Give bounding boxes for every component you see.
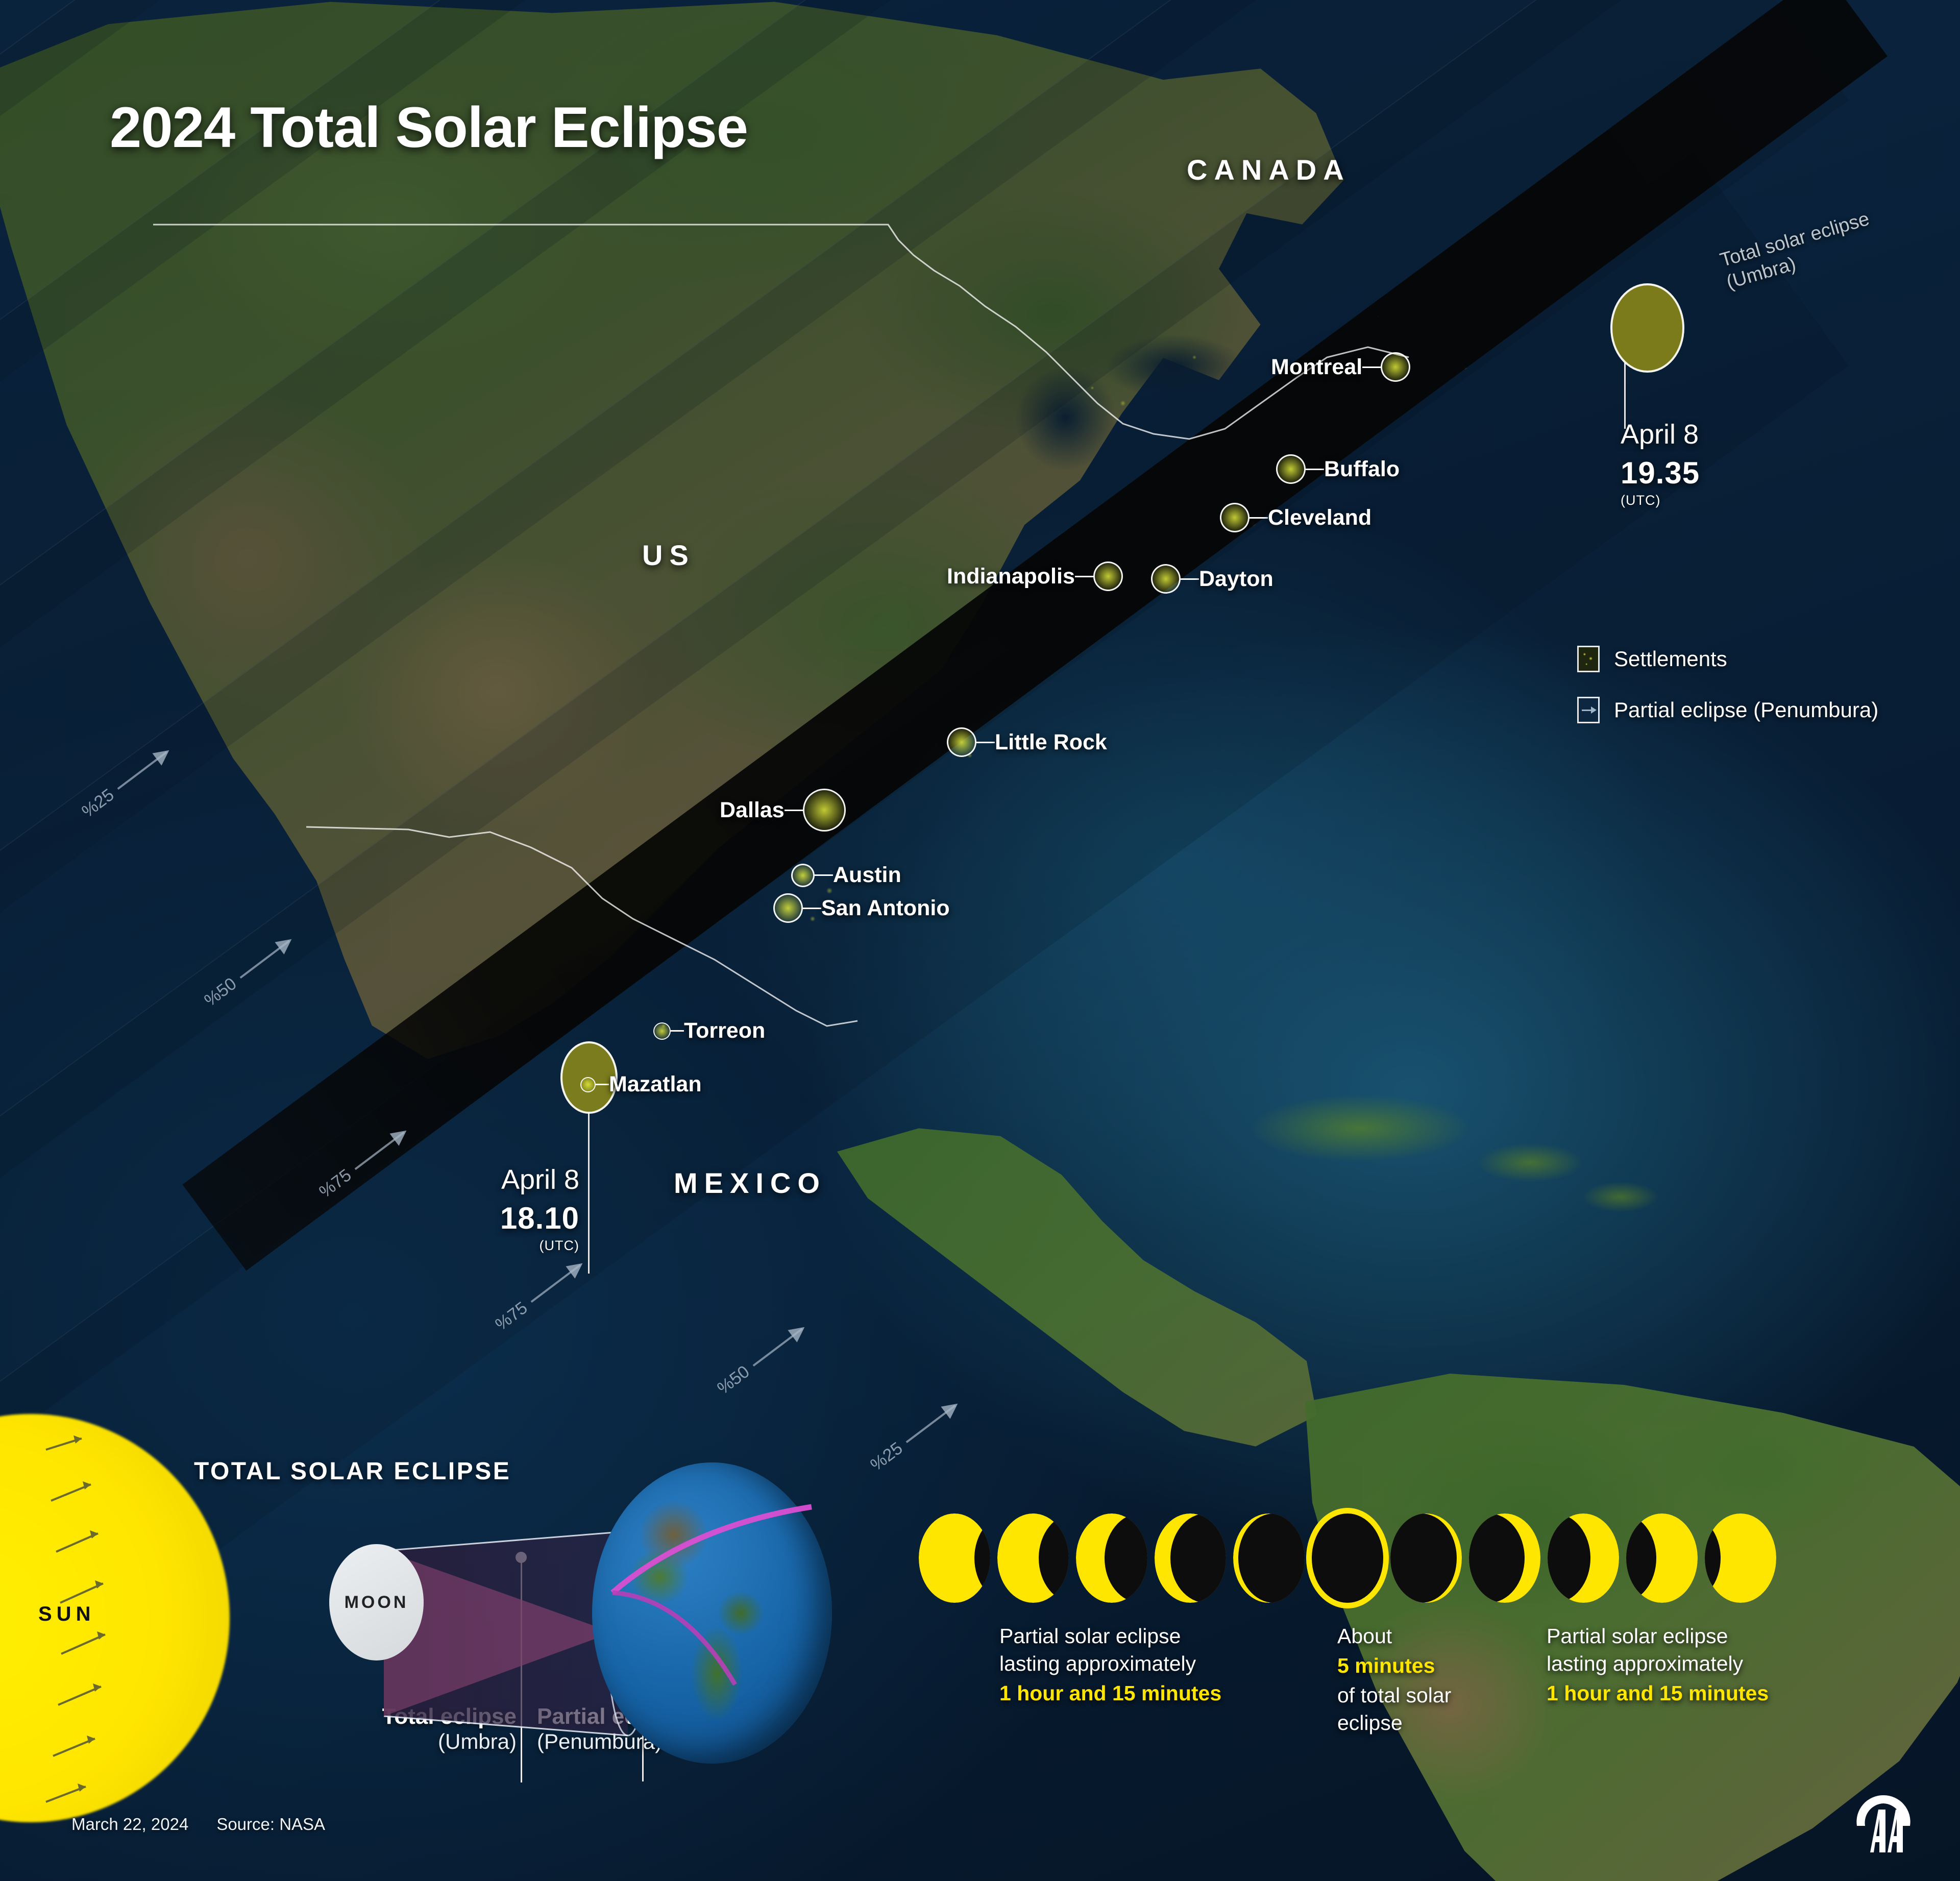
callout-timezone: (UTC)	[480, 1238, 579, 1254]
callout-leader-line	[588, 1113, 590, 1274]
city-label: Dallas	[720, 798, 785, 823]
leader-line	[1362, 367, 1381, 368]
callout-time: 19.35	[1621, 455, 1700, 491]
caption-line2: lasting approximately	[1547, 1650, 1840, 1677]
callout-leader-line	[1624, 362, 1626, 429]
umbra-footprint-east	[1610, 283, 1684, 373]
eclipse-phase-partial	[1705, 1513, 1776, 1603]
caption-line1: Partial solar eclipse	[999, 1622, 1293, 1650]
settlement-dot-icon	[580, 1077, 596, 1092]
settlement-dot-icon	[1220, 503, 1249, 532]
settlement-dot-icon	[791, 864, 815, 887]
settlement-dot-icon	[653, 1022, 671, 1040]
callout-date: April 8	[1621, 419, 1700, 450]
city-marker-torreon[interactable]: Torreon	[653, 1018, 765, 1043]
city-marker-montreal[interactable]: Montreal	[1271, 352, 1410, 382]
eclipse-phase-partial	[1626, 1513, 1698, 1603]
eclipse-phase-total	[1312, 1513, 1383, 1603]
legend-item-settlements: Settlements	[1577, 646, 1878, 672]
city-label: Mazatlan	[609, 1072, 702, 1097]
footer: March 22, 2024 Source: NASA	[71, 1815, 325, 1834]
city-label: Montreal	[1271, 355, 1362, 380]
infographic-canvas: 2024 Total Solar Eclipse CANADA US MEXIC…	[0, 0, 1960, 1881]
caption-line2: of total solar	[1337, 1681, 1490, 1709]
city-marker-austin[interactable]: Austin	[791, 863, 901, 888]
caption-line1: Partial solar eclipse	[1547, 1622, 1840, 1650]
caption-line1: About	[1337, 1622, 1490, 1650]
phase-caption-after: Partial solar eclipse lasting approximat…	[1547, 1622, 1840, 1707]
settlement-dot-icon	[1151, 564, 1181, 594]
city-label: Torreon	[684, 1018, 765, 1043]
moon-label: MOON	[345, 1593, 409, 1613]
eclipse-phase-partial	[1076, 1513, 1147, 1603]
city-label: Little Rock	[995, 730, 1107, 755]
city-marker-little-rock[interactable]: Little Rock	[947, 727, 1107, 757]
moon-disc	[1238, 1513, 1305, 1603]
settlement-dot-icon	[1381, 352, 1410, 382]
caption-highlight: 5 minutes	[1337, 1652, 1490, 1679]
leader-line	[976, 742, 995, 743]
settlement-dot-icon	[1093, 561, 1123, 591]
callout-timezone: (UTC)	[1621, 493, 1700, 508]
city-label: Dayton	[1199, 567, 1273, 592]
phase-caption-before: Partial solar eclipse lasting approximat…	[999, 1622, 1293, 1707]
aa-logo	[1848, 1789, 1919, 1861]
sun-disc	[1312, 1513, 1383, 1603]
page-title: 2024 Total Solar Eclipse	[110, 94, 748, 160]
eclipse-path-arc	[607, 1480, 822, 1746]
caption-line2: lasting approximately	[999, 1650, 1293, 1677]
leader-line	[803, 908, 821, 909]
penumbra-swatch-icon	[1577, 697, 1600, 723]
country-label-mexico: MEXICO	[674, 1166, 826, 1200]
phase-caption-totality: About 5 minutes of total solar eclipse	[1337, 1622, 1490, 1737]
leader-line	[785, 810, 803, 811]
leader-line	[1181, 578, 1199, 580]
eclipse-phase-partial	[1548, 1513, 1619, 1603]
eclipse-phase-partial	[1390, 1513, 1462, 1603]
settlement-dot-icon	[773, 893, 803, 923]
city-marker-buffalo[interactable]: Buffalo	[1276, 454, 1400, 484]
eclipse-phase-partial	[1155, 1513, 1226, 1603]
leader-line	[1075, 576, 1093, 577]
country-label-canada: CANADA	[1187, 153, 1351, 186]
footer-source: Source: NASA	[216, 1815, 325, 1834]
city-label: Cleveland	[1268, 505, 1371, 530]
city-marker-dayton[interactable]: Dayton	[1151, 564, 1273, 594]
callout-time: 18.10	[480, 1201, 579, 1236]
leader-line	[1306, 469, 1324, 470]
eclipse-phase-partial	[1469, 1513, 1540, 1603]
diagram-title: TOTAL SOLAR ECLIPSE	[194, 1457, 511, 1485]
leader-line	[1249, 517, 1268, 519]
city-marker-mazatlan[interactable]: Mazatlan	[580, 1072, 702, 1097]
eclipse-phase-partial	[1233, 1513, 1305, 1603]
city-marker-san-antonio[interactable]: San Antonio	[773, 893, 950, 923]
city-label: Austin	[833, 863, 901, 888]
city-marker-cleveland[interactable]: Cleveland	[1220, 503, 1371, 532]
callout-date: April 8	[480, 1164, 579, 1195]
caption-line3: eclipse	[1337, 1709, 1490, 1737]
settlement-dot-icon	[947, 727, 976, 757]
sun-label: SUN	[38, 1603, 95, 1626]
legend-label: Settlements	[1614, 647, 1727, 671]
city-label: San Antonio	[821, 896, 950, 921]
leader-line	[671, 1030, 684, 1032]
settlement-dot-icon	[1276, 454, 1306, 484]
eclipse-phase-partial	[997, 1513, 1069, 1603]
eclipse-phase-partial	[919, 1513, 990, 1603]
city-marker-dallas[interactable]: Dallas	[720, 789, 846, 832]
eclipse-phase-sequence	[919, 1513, 1776, 1603]
map-legend: Settlements Partial eclipse (Penumbura)	[1577, 646, 1878, 748]
legend-label: Partial eclipse (Penumbura)	[1614, 698, 1878, 722]
city-label: Buffalo	[1324, 457, 1400, 482]
leader-line	[815, 874, 833, 876]
city-label: Indianapolis	[947, 564, 1075, 589]
caption-highlight: 1 hour and 15 minutes	[999, 1679, 1293, 1707]
moon-graphic: MOON	[329, 1544, 424, 1660]
country-label-us: US	[642, 539, 695, 572]
settlement-dot-icon	[803, 789, 846, 832]
caption-highlight: 1 hour and 15 minutes	[1547, 1679, 1840, 1707]
legend-item-penumbra: Partial eclipse (Penumbura)	[1577, 697, 1878, 723]
city-marker-indianapolis[interactable]: Indianapolis	[947, 561, 1123, 591]
footer-date: March 22, 2024	[71, 1815, 188, 1834]
leader-line	[596, 1084, 609, 1085]
settlements-swatch-icon	[1577, 646, 1600, 672]
